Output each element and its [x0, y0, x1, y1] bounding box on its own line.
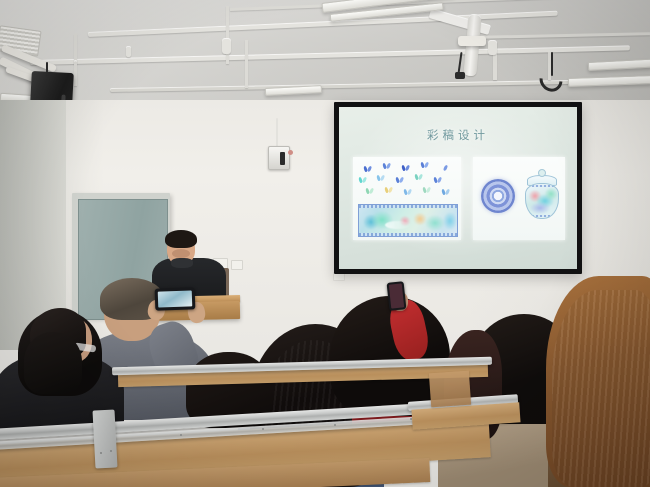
phone-screen	[158, 290, 193, 307]
hair	[24, 332, 82, 394]
vase-motif	[544, 188, 558, 200]
vase-design	[525, 183, 559, 219]
butterfly-icon	[359, 177, 366, 183]
phone-device[interactable]	[387, 281, 407, 311]
screen-surface: 彩稿设计	[339, 107, 577, 269]
butterfly-icon	[423, 187, 430, 193]
sensor-lens-icon	[280, 152, 285, 165]
vase-rim-pattern	[528, 185, 556, 187]
pipe-drop-vertical-long	[74, 62, 77, 86]
presenter-collar	[171, 258, 193, 268]
presenter-face-shadow	[172, 249, 190, 258]
band-edge-top	[359, 205, 457, 208]
band-motif	[443, 212, 457, 230]
butterfly-icon	[396, 177, 403, 183]
sensor-indicator-icon	[288, 150, 293, 155]
butterfly-icon	[383, 163, 390, 169]
butterfly-icon	[377, 175, 384, 181]
wall-sensor	[268, 146, 290, 170]
duct-collar	[458, 36, 486, 46]
butterfly-icon	[434, 177, 441, 183]
slide-right-panel	[473, 157, 565, 240]
slide-left-panel	[353, 157, 461, 240]
side-wall-wood-trim	[429, 371, 471, 408]
butterfly-icon	[404, 189, 411, 195]
wall-outlet-secondary[interactable]	[231, 260, 243, 270]
phone-screen	[389, 283, 404, 308]
vase-motif	[530, 202, 550, 214]
butterfly-icon	[402, 165, 409, 171]
pipe-drop-mid2	[245, 40, 248, 88]
butterfly-icon	[415, 174, 422, 180]
butterfly-icon	[385, 187, 392, 193]
butterfly-icon	[440, 165, 447, 171]
speaker-cable	[46, 62, 48, 76]
pipe-drop-left	[74, 34, 77, 62]
phone-device[interactable]	[155, 287, 196, 310]
pipe-junction-b	[488, 40, 497, 55]
slide-title: 彩稿设计	[339, 127, 577, 143]
butterfly-icon	[364, 166, 371, 172]
butterfly-icon	[421, 162, 428, 168]
butterfly-icon	[366, 188, 373, 194]
pattern-band	[358, 204, 458, 237]
pipe-junction-a	[222, 38, 231, 54]
bench-bracket	[92, 409, 117, 468]
pipe-drop-mid	[226, 6, 229, 64]
band-motif	[425, 215, 445, 231]
presenter-hair	[165, 230, 197, 248]
band-edge-bottom	[359, 233, 457, 236]
vase-base-pattern	[528, 215, 556, 217]
vase-knob	[538, 169, 546, 177]
pipe-junction-c	[126, 46, 131, 57]
butterfly-icon	[442, 189, 449, 195]
projection-screen: 彩稿设计	[334, 102, 582, 274]
plate-design	[481, 179, 515, 213]
hair-strands	[552, 290, 650, 487]
band-motif	[385, 221, 411, 229]
lecture-hall-photo: 彩稿设计	[0, 0, 650, 487]
